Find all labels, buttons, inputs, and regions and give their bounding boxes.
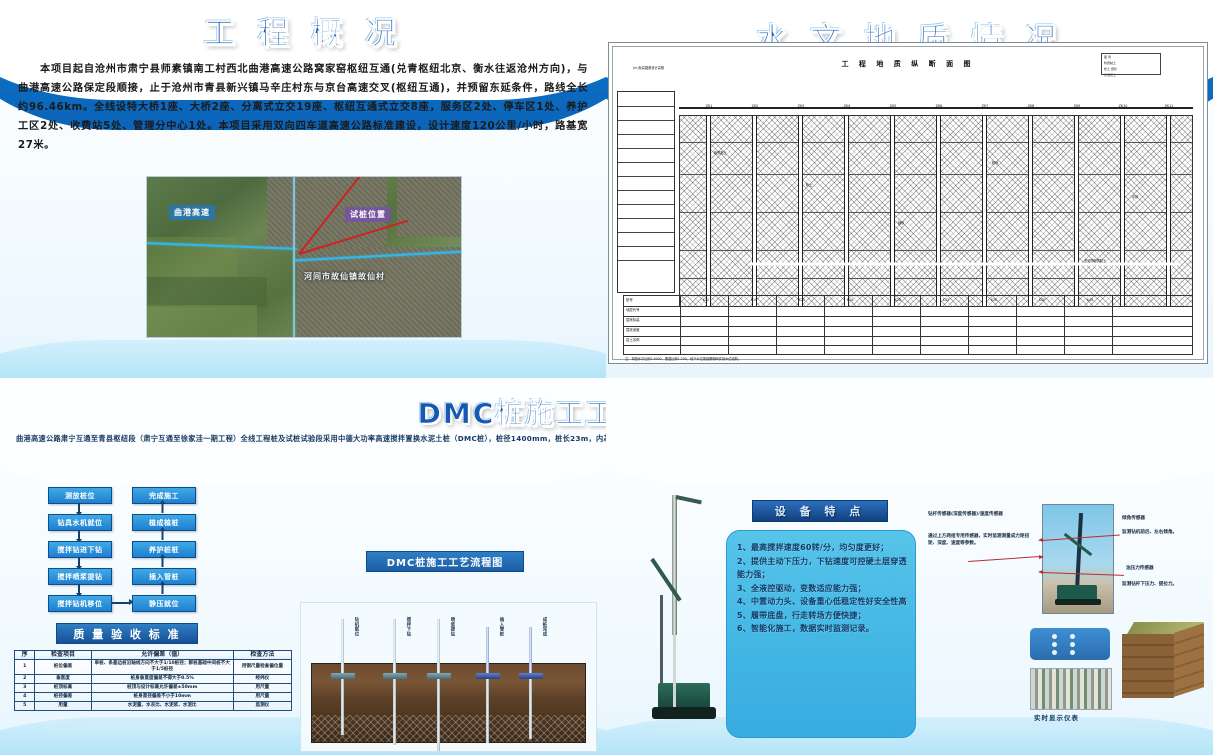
soil-note: 粉砂 xyxy=(992,160,998,165)
cell: 桩顶与设计标高允许偏差±50mm xyxy=(91,684,233,693)
rig-support xyxy=(660,595,663,685)
table-cell: K12 xyxy=(686,298,726,302)
project-location-map: 曲港高速 试桩位置 河间市故仙镇故仙村 xyxy=(146,176,462,338)
cell: 经纬仪 xyxy=(233,675,291,684)
feature-item-5: 6、智能化施工，数据实时监测记录。 xyxy=(737,622,907,636)
borehole-label: ZK1 xyxy=(697,104,721,108)
soil-column-sample-image xyxy=(1122,622,1206,708)
table-cell: K40 xyxy=(1022,298,1062,302)
page-title-engineering-overview: 工 程 概 况 xyxy=(0,8,606,53)
borehole-label: ZK9 xyxy=(1065,104,1089,108)
cell: 单桩、条基边桩沿轴线方向不大于1/10桩径；群桩基础中间桩不大于1/5桩径 xyxy=(91,660,233,675)
table-row: 3桩顶标高桩顶与设计标高允许偏差±50mm用尺量 xyxy=(15,684,292,693)
cell: 桩位偏差 xyxy=(35,660,91,675)
table-row-label: 层底深度 xyxy=(626,328,640,333)
flow-step-left-3[interactable]: 搅拌喷浆提钻 xyxy=(48,568,112,585)
flow-step-left-4[interactable]: 搅拌钻机移位 xyxy=(48,595,112,612)
board-engineering-overview: 工 程 概 况 本项目起自沧州市肃宁县师素镇南工村西北曲港高速公路窝家窑枢纽互通… xyxy=(0,0,606,378)
soil-hatch-body: ZK1 ZK2 ZK3 ZK4 ZK5 ZK6 ZK7 ZK8 ZK9 ZK10… xyxy=(679,115,1193,307)
borehole-label: ZK4 xyxy=(835,104,859,108)
th-0: 序 xyxy=(15,651,35,660)
photo-mast xyxy=(1075,513,1083,591)
cell: 用尺量 xyxy=(233,684,291,693)
cell: 5 xyxy=(15,702,35,711)
pile-shaft xyxy=(393,679,396,745)
cell: 桩径偏差 xyxy=(35,693,91,702)
photo-track xyxy=(1055,599,1101,605)
cell: 2 xyxy=(15,675,35,684)
table-cell: K20 xyxy=(782,298,822,302)
pile-shaft xyxy=(341,679,344,735)
rig-photo xyxy=(1042,504,1114,614)
cell: 水泥量、水灰比、水泥浆、水泥比 xyxy=(91,702,233,711)
borehole-label: ZK2 xyxy=(743,104,767,108)
sample-side xyxy=(1174,623,1204,697)
flow-arrow-right xyxy=(112,602,130,604)
drill-rod xyxy=(673,635,676,707)
annotation-right-body: 监测钻机前后、左右倾角。 xyxy=(1122,530,1206,537)
drill-rig-illustration xyxy=(636,495,722,745)
rig-mast xyxy=(486,627,489,677)
feature-item-2: 3、全液控驱动，变数适应能力强； xyxy=(737,582,907,596)
cell: 垂直度 xyxy=(35,675,91,684)
drawing-elevation-scale xyxy=(617,91,675,293)
cell: 4 xyxy=(15,693,35,702)
rig-tower xyxy=(672,495,677,635)
borehole-label: ZK6 xyxy=(927,104,951,108)
table-row: 5用量水泥量、水灰比、水泥浆、水泥比监测仪 xyxy=(15,702,292,711)
drawing-left-axis-label: (m)标高路基设计高程 xyxy=(633,65,664,70)
flow-step-left-2[interactable]: 搅拌钻进下钻 xyxy=(48,541,112,558)
rig-body xyxy=(658,683,710,709)
th-2: 允许偏差（值） xyxy=(91,651,233,660)
engineering-overview-paragraph: 本项目起自沧州市肃宁县师素镇南工村西北曲港高速公路窝家窑枢纽互通(兑青枢纽北京、… xyxy=(18,60,588,155)
flow-arrow-down xyxy=(78,584,80,594)
cell: 用量 xyxy=(35,702,91,711)
table-row-label: 桩号 xyxy=(626,298,633,303)
pile-stage-label-4: 成桩完成 xyxy=(541,617,547,637)
legend-line-3: 淤泥质土 xyxy=(1102,72,1160,78)
meter-display-image xyxy=(1030,668,1112,710)
soil-note: 中砂 xyxy=(1132,194,1138,199)
drawing-legend: 图 例 粉质黏土 粉土 细砂 淤泥质土 xyxy=(1101,53,1161,75)
annotation-right-title: 倾角传感器 xyxy=(1122,516,1206,523)
map-label-test-pile: 试桩位置 xyxy=(345,207,391,222)
pile-shaft xyxy=(437,679,440,752)
table-row: 1桩位偏差单桩、条基边桩沿轴线方向不大于1/10桩径；群桩基础中间桩不大于1/5… xyxy=(15,660,292,675)
flow-arrow-down xyxy=(78,530,80,540)
drawing-data-table: 桩号 地层代号 层底标高 层底深度 岩土名称 K12 K16 K20 K24 K… xyxy=(623,295,1193,355)
soil-note: 细砂 xyxy=(898,220,904,225)
pile-stage-label-3: 插入管桩 xyxy=(498,617,504,637)
table-row-label: 岩土名称 xyxy=(626,338,640,343)
pile-construction-sequence-figure: 钻机就位 搅拌下钻 喷浆提钻 插入管桩 成桩完成 xyxy=(300,602,597,752)
table-header-row: 序 检查项目 允许偏差（值） 检查方法 xyxy=(15,651,292,660)
borehole-label: ZK10 xyxy=(1111,104,1135,108)
th-1: 检查项目 xyxy=(35,651,91,660)
cell: 1 xyxy=(15,660,35,675)
borehole-label: ZK7 xyxy=(973,104,997,108)
flow-arrow-up xyxy=(162,503,164,513)
flow-arrow-up xyxy=(162,584,164,594)
equipment-features-title: 设 备 特 点 xyxy=(752,500,888,522)
table-cell: K24 xyxy=(830,298,870,302)
soil-note: 粉质黏土 xyxy=(714,150,727,155)
geological-profile-drawing: 工 程 地 质 纵 断 面 图 (m)标高路基设计高程 图 例 粉质黏土 粉土 … xyxy=(608,42,1208,364)
pile-stage-label-2: 喷浆提钻 xyxy=(449,617,455,637)
table-row-label: 层底标高 xyxy=(626,318,640,323)
borehole-label: ZK3 xyxy=(789,104,813,108)
annotation-right-body-2: 监测钻杆下压力、提拉力。 xyxy=(1122,582,1206,589)
annotation-right-title-2: 油压力传感器 xyxy=(1126,566,1210,573)
feature-item-0: 1、最高搅拌速度60转/分，均匀度更好； xyxy=(737,541,907,555)
soil-note: 粉土 xyxy=(806,182,812,187)
table-row-label: 地层代号 xyxy=(626,308,640,313)
cell: 用钢尺量检查偏位量 xyxy=(233,660,291,675)
flow-step-right-4[interactable]: 静压就位 xyxy=(132,595,196,612)
cell: 用尺量 xyxy=(233,693,291,702)
borehole-label: ZK8 xyxy=(1019,104,1043,108)
flow-arrow-up xyxy=(162,557,164,567)
rig-mast xyxy=(529,627,532,677)
table-cell: K28 xyxy=(878,298,918,302)
rig-track xyxy=(652,707,716,719)
rig-mast xyxy=(437,619,440,677)
cell: 3 xyxy=(15,684,35,693)
pile-stage-label-0: 钻机就位 xyxy=(353,617,359,637)
table-cell: K44 xyxy=(1070,298,1110,302)
feature-item-4: 5、履带底盘，行走转场方便快捷； xyxy=(737,609,907,623)
cell: 桩身直径偏差不小于10mm xyxy=(91,693,233,702)
quality-acceptance-table: 序 检查项目 允许偏差（值） 检查方法 1桩位偏差单桩、条基边桩沿轴线方向不大于… xyxy=(14,650,292,711)
pile-shaft xyxy=(486,679,489,743)
quality-standard-title: 质 量 验 收 标 准 xyxy=(56,623,198,644)
cell: 桩身垂直度偏差不得大于0.5% xyxy=(91,675,233,684)
flow-arrow-down xyxy=(78,503,80,513)
flow-arrow-up xyxy=(162,530,164,540)
map-label-village: 河间市故仙镇故仙村 xyxy=(299,269,390,284)
equipment-features-card: 1、最高搅拌速度60转/分，均匀度更好； 2、提供主动下压力，下钻速度可控硬土层… xyxy=(726,530,916,738)
pile-shaft xyxy=(529,679,532,739)
flow-step-left-1[interactable]: 钻具水机就位 xyxy=(48,514,112,531)
feature-item-3: 4、中置动力头、设备重心低稳定性好安全性高 xyxy=(737,595,907,609)
annotation-left-body: 通过上方两组专用传感器，实时监测测量成力矩扭矩、深度、速度等参数。 xyxy=(928,534,1034,547)
borehole-label: ZK5 xyxy=(881,104,905,108)
borehole-label: ZK11 xyxy=(1157,104,1181,108)
cell: 桩顶标高 xyxy=(35,684,91,693)
map-label-highway: 曲港高速 xyxy=(169,205,215,220)
table-cell: K32 xyxy=(926,298,966,302)
rig-mast xyxy=(393,619,396,677)
rig-top-arm xyxy=(676,495,702,504)
cell: 监测仪 xyxy=(233,702,291,711)
drawing-footnote: 注：本图水平比例1:5000，垂直比例1:200，地下水位按勘察期间实测水位绘制… xyxy=(625,356,741,361)
table-cell: K36 xyxy=(974,298,1014,302)
feature-item-1: 2、提供主动下压力，下钻速度可控硬土层穿透能力强； xyxy=(737,555,907,582)
flow-chart-title: DMC桩施工工艺流程图 xyxy=(366,551,524,572)
meter-caption: 实时显示仪表 xyxy=(1034,712,1079,722)
flow-arrow-down xyxy=(78,557,80,567)
groundwater-line xyxy=(750,256,1178,272)
flow-step-left-0[interactable]: 测放桩位 xyxy=(48,487,112,504)
th-3: 检查方法 xyxy=(233,651,291,660)
table-row: 4桩径偏差桩身直径偏差不小于10mm用尺量 xyxy=(15,693,292,702)
pile-stage-label-1: 搅拌下钻 xyxy=(405,617,411,637)
annotation-left-title: 钻杆传感器(深度传感器)/速度传感器 xyxy=(928,512,1032,519)
wave-band-bottom xyxy=(0,340,606,378)
table-cell: K16 xyxy=(734,298,774,302)
sample-front xyxy=(1122,634,1174,698)
control-panel-image xyxy=(1030,628,1110,660)
wave-band-white xyxy=(606,378,1213,486)
table-row: 2垂直度桩身垂直度偏差不得大于0.5%经纬仪 xyxy=(15,675,292,684)
rig-mast xyxy=(341,619,344,677)
